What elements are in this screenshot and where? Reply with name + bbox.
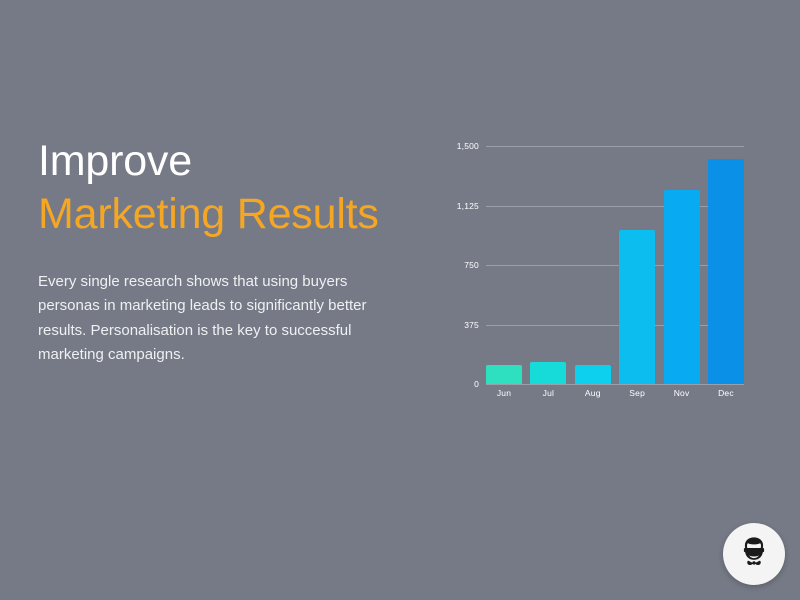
bar-slot	[664, 146, 700, 384]
bar-slot	[708, 146, 744, 384]
bar-slot	[575, 146, 611, 384]
bearded-man-avatar-icon	[737, 536, 771, 572]
y-tick-label: 750	[464, 260, 479, 270]
x-tick-label: Aug	[575, 388, 611, 398]
bar-jun[interactable]	[486, 365, 522, 384]
headline-secondary: Marketing Results	[38, 193, 418, 236]
bar-slot	[619, 146, 655, 384]
x-tick-label: Jun	[486, 388, 522, 398]
bar-slot	[530, 146, 566, 384]
x-axis-labels: JunJulAugSepNovDec	[486, 388, 744, 398]
gridline: 0	[486, 384, 744, 385]
text-column: Improve Marketing Results Every single r…	[38, 140, 418, 367]
bars-layer	[486, 146, 744, 384]
bar-sep[interactable]	[619, 230, 655, 384]
bar-aug[interactable]	[575, 365, 611, 384]
bar-dec[interactable]	[708, 159, 744, 384]
bar-nov[interactable]	[664, 190, 700, 384]
x-tick-label: Sep	[619, 388, 655, 398]
x-tick-label: Dec	[708, 388, 744, 398]
y-tick-label: 1,500	[457, 141, 479, 151]
y-tick-label: 1,125	[457, 201, 479, 211]
headline-primary: Improve	[38, 140, 418, 183]
bar-slot	[486, 146, 522, 384]
logo-badge[interactable]	[723, 523, 785, 585]
body-paragraph: Every single research shows that using b…	[38, 270, 410, 367]
bar-chart: 03757501,1251,500 JunJulAugSepNovDec	[452, 136, 752, 406]
bar-jul[interactable]	[530, 362, 566, 384]
y-tick-label: 0	[474, 379, 479, 389]
x-tick-label: Jul	[530, 388, 566, 398]
presentation-slide: Improve Marketing Results Every single r…	[0, 0, 800, 600]
chart-plot-area: 03757501,1251,500	[486, 146, 744, 384]
y-tick-label: 375	[464, 320, 479, 330]
x-tick-label: Nov	[664, 388, 700, 398]
